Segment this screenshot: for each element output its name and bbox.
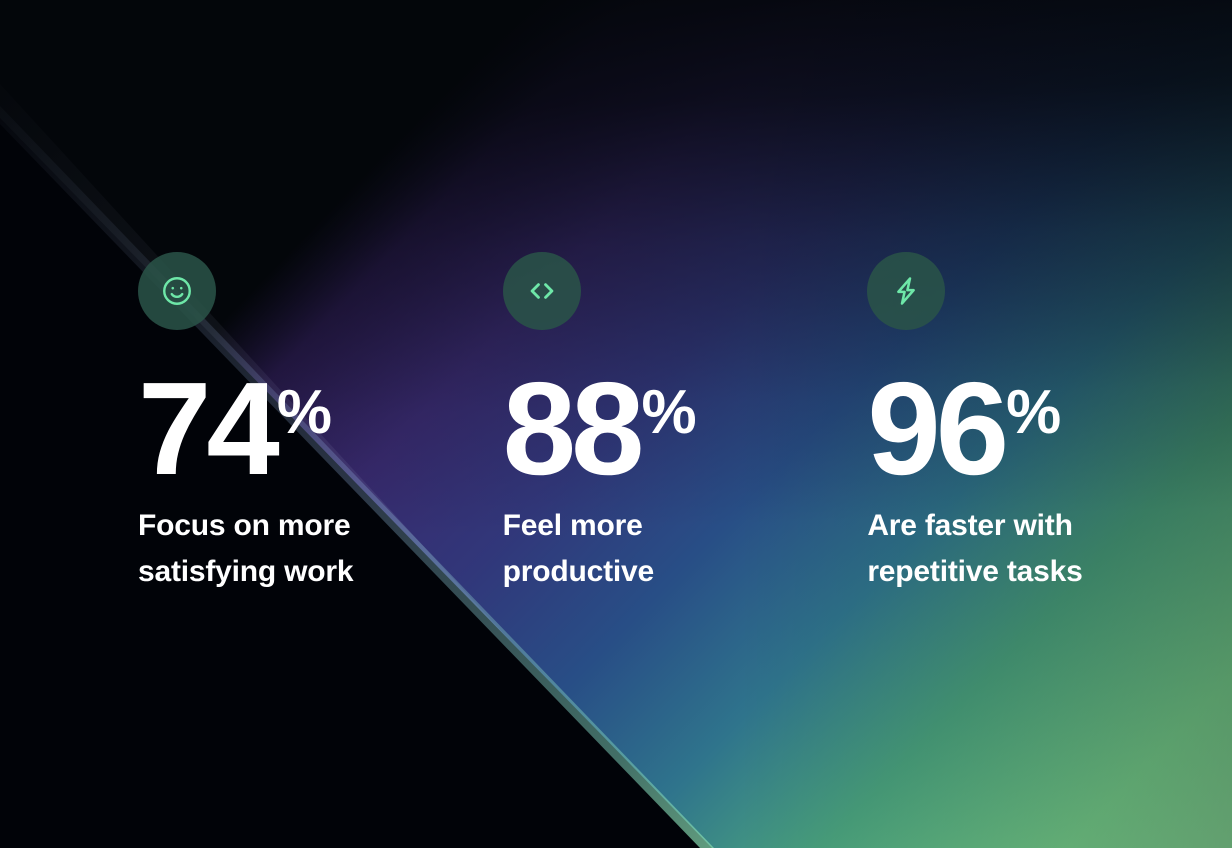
stat-item: 96 % Are faster with repetitive tasks [867, 252, 1197, 595]
stats-banner: 74 % Focus on more satisfying work 88 [0, 0, 1232, 848]
stat-number: 74 [138, 378, 275, 481]
stat-label-line-2: repetitive tasks [867, 549, 1167, 595]
stat-icon-badge [503, 252, 581, 330]
stat-label: Focus on more satisfying work [138, 503, 438, 595]
stat-percent-sign: % [1006, 382, 1061, 444]
stat-value: 96 % [867, 378, 1197, 481]
stat-item: 74 % Focus on more satisfying work [138, 252, 468, 595]
stat-label-line-1: Are faster with [867, 503, 1167, 549]
code-brackets-icon [525, 274, 559, 308]
stats-grid: 74 % Focus on more satisfying work 88 [0, 0, 1232, 848]
smiley-face-icon [160, 274, 194, 308]
stat-label-line-1: Feel more [503, 503, 803, 549]
stat-label-line-2: productive [503, 549, 803, 595]
stat-number: 96 [867, 378, 1004, 481]
lightning-bolt-icon [889, 274, 923, 308]
stat-icon-badge [138, 252, 216, 330]
stat-label: Feel more productive [503, 503, 803, 595]
stat-percent-sign: % [277, 382, 332, 444]
stat-number: 88 [503, 378, 640, 481]
stat-label-line-2: satisfying work [138, 549, 438, 595]
stat-value: 88 % [503, 378, 833, 481]
stat-label-line-1: Focus on more [138, 503, 438, 549]
stat-item: 88 % Feel more productive [503, 252, 833, 595]
stat-value: 74 % [138, 378, 468, 481]
stat-percent-sign: % [641, 382, 696, 444]
stat-label: Are faster with repetitive tasks [867, 503, 1167, 595]
stat-icon-badge [867, 252, 945, 330]
